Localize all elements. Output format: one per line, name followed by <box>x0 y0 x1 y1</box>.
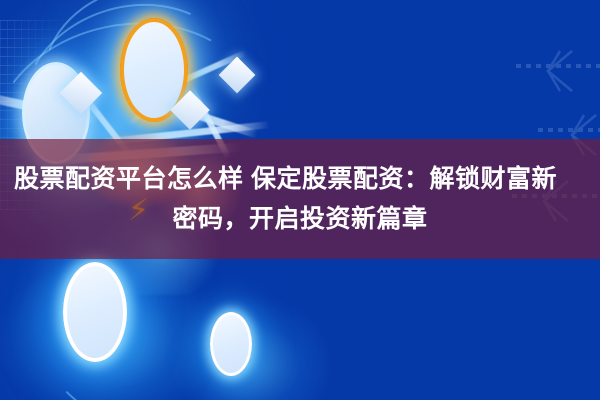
bottom-left-node <box>63 262 127 362</box>
dotted-trail <box>516 64 600 68</box>
bottom-right-node <box>210 312 252 376</box>
caption-line-1: 股票配资平台怎么样 保定股票配资：解锁财富新 <box>8 159 592 199</box>
banner-image: 股票配资平台怎么样 保定股票配资：解锁财富新 密码，开启投资新篇章 <box>0 0 600 400</box>
caption-line-2: 密码，开启投资新篇章 <box>8 199 592 239</box>
dotted-trail <box>538 128 600 132</box>
caption-overlay-band: 股票配资平台怎么样 保定股票配资：解锁财富新 密码，开启投资新篇章 <box>0 139 600 259</box>
chevron-arrow-icon <box>542 48 576 94</box>
